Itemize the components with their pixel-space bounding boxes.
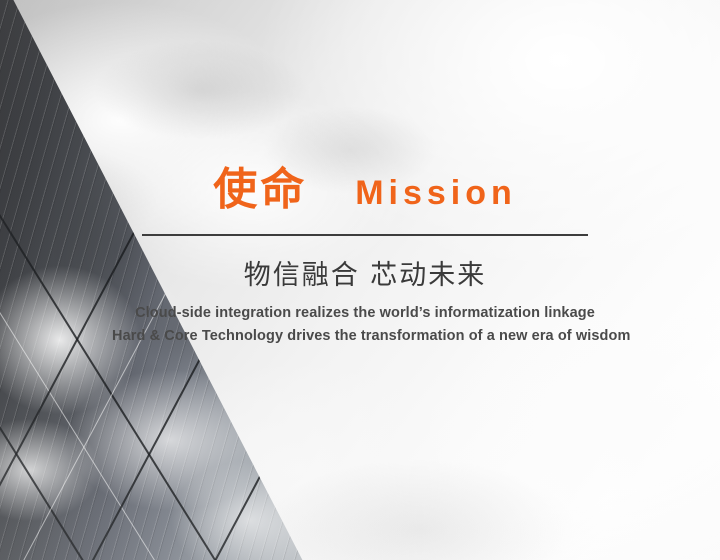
title-divider	[142, 234, 588, 236]
tagline-block: Cloud-side integration realizes the worl…	[112, 302, 618, 349]
tagline-line-2: Hard & Core Technology drives the transf…	[112, 325, 618, 348]
page-title-chinese: 使命	[213, 168, 307, 212]
subtitle-chinese: 物信融合 芯动未来	[142, 258, 588, 294]
banner-content: 使命 Mission 物信融合 芯动未来 Cloud-side integrat…	[0, 0, 720, 560]
title-row: 使命 Mission	[142, 168, 588, 212]
mission-banner: 使命 Mission 物信融合 芯动未来 Cloud-side integrat…	[0, 0, 720, 560]
page-title-english: Mission	[355, 176, 517, 210]
tagline-line-1: Cloud-side integration realizes the worl…	[112, 302, 618, 325]
